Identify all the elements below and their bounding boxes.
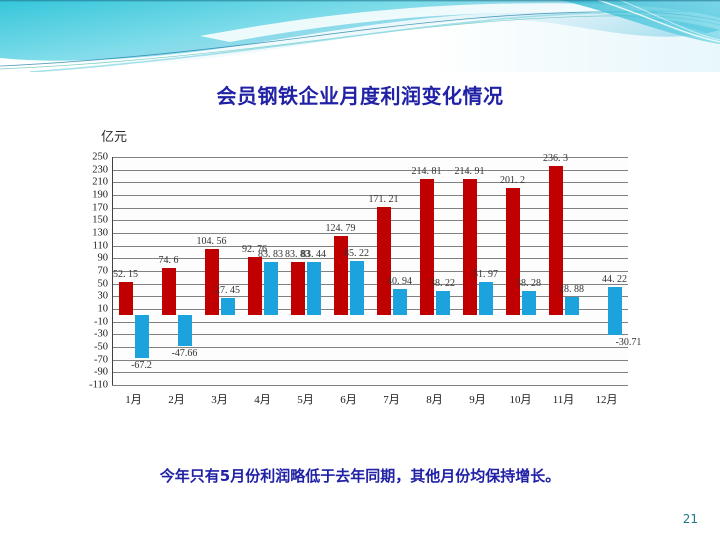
- x-axis-tick-label: 2月: [155, 391, 198, 407]
- bar-previous-year: [221, 298, 235, 315]
- bar-value-label: 214. 91: [455, 166, 485, 177]
- bar-value-label: 201. 2: [500, 175, 525, 186]
- bar-value-label: -30.71: [616, 337, 642, 348]
- bar-previous-year: [608, 315, 622, 334]
- x-axis-tick-label: 1月: [112, 391, 155, 407]
- bar-value-label: 236. 3: [543, 153, 568, 164]
- x-axis-tick-label: 6月: [327, 391, 370, 407]
- gridline: [112, 372, 628, 373]
- bar-current-year: [162, 268, 176, 315]
- x-axis-tick-label: 12月: [585, 391, 628, 407]
- x-axis-tick-label: 11月: [542, 391, 585, 407]
- y-axis-tick-label: 190: [68, 190, 108, 201]
- y-axis-tick-label: 210: [68, 177, 108, 188]
- bar-value-label: -67.2: [131, 360, 152, 371]
- bar-value-label: 38. 28: [516, 278, 541, 289]
- y-axis-tick-label: 170: [68, 202, 108, 213]
- y-axis-tick-label: -30: [68, 329, 108, 340]
- bar-value-label: 83. 83: [258, 249, 283, 260]
- bar-previous-year: [307, 262, 321, 315]
- y-axis-tick-label: 150: [68, 215, 108, 226]
- y-axis-tick-label: 50: [68, 278, 108, 289]
- bar-current-year: [205, 249, 219, 315]
- x-axis-tick-label: 3月: [198, 391, 241, 407]
- y-axis-tick-label: 30: [68, 291, 108, 302]
- bar-value-label: 104. 56: [197, 236, 227, 247]
- bar-previous-year: [135, 315, 149, 358]
- y-axis-tick-label: 250: [68, 152, 108, 163]
- bar-value-label: 171. 21: [369, 194, 399, 205]
- bar-current-year: [420, 179, 434, 315]
- bar-current-year: [119, 282, 133, 315]
- bar-previous-year: [522, 291, 536, 315]
- y-axis-tick-label: 10: [68, 304, 108, 315]
- x-axis-tick-label: 10月: [499, 391, 542, 407]
- y-axis-tick-label: -10: [68, 316, 108, 327]
- y-axis-tick-label: 110: [68, 240, 108, 251]
- gridline: [112, 385, 628, 386]
- bar-previous-year: [178, 315, 192, 345]
- x-axis-tick-label: 9月: [456, 391, 499, 407]
- monthly-profit-bar-chart: 2502302101901701501301109070503010-10-30…: [0, 0, 720, 540]
- bar-current-year: [506, 188, 520, 315]
- bar-value-label: 44. 22: [602, 274, 627, 285]
- slide-caption: 今年只有5月份利润略低于去年同期，其他月份均保持增长。: [0, 465, 720, 486]
- y-axis-tick-label: 90: [68, 253, 108, 264]
- bar-current-year: [248, 257, 262, 316]
- y-axis-tick-label: 130: [68, 228, 108, 239]
- gridline: [112, 360, 628, 361]
- chart-plot-area: 2502302101901701501301109070503010-10-30…: [112, 157, 628, 385]
- bar-value-label: 40. 94: [387, 276, 412, 287]
- y-axis-tick-label: -70: [68, 354, 108, 365]
- page-number: 21: [683, 512, 698, 526]
- bar-previous-year: [436, 291, 450, 315]
- bar-previous-year: [565, 297, 579, 315]
- bar-value-label: 51. 97: [473, 269, 498, 280]
- bar-value-label: 52. 15: [113, 269, 138, 280]
- bar-previous-year: [479, 282, 493, 315]
- y-axis-tick-label: -90: [68, 367, 108, 378]
- y-axis-tick-label: -50: [68, 342, 108, 353]
- bar-value-label: 85. 22: [344, 248, 369, 259]
- x-axis-tick-label: 5月: [284, 391, 327, 407]
- bar-value-label: 38. 22: [430, 278, 455, 289]
- y-axis-tick-label: 230: [68, 164, 108, 175]
- x-axis-tick-label: 7月: [370, 391, 413, 407]
- bar-previous-year: [608, 287, 622, 315]
- bar-current-year: [463, 179, 477, 315]
- bar-value-label: 83. 44: [301, 249, 326, 260]
- bar-previous-year: [264, 262, 278, 315]
- bar-value-label: 214. 81: [412, 166, 442, 177]
- x-axis-tick-label: 8月: [413, 391, 456, 407]
- bar-value-label: -47.66: [172, 348, 198, 359]
- bar-previous-year: [393, 289, 407, 315]
- bar-value-label: 28. 88: [559, 284, 584, 295]
- bar-value-label: 124. 79: [326, 223, 356, 234]
- bar-current-year: [377, 207, 391, 315]
- x-axis-tick-label: 4月: [241, 391, 284, 407]
- bar-value-label: 74. 6: [159, 255, 179, 266]
- bar-value-label: 27. 45: [215, 285, 240, 296]
- y-axis-tick-label: 70: [68, 266, 108, 277]
- y-axis-tick-label: -110: [68, 380, 108, 391]
- bar-previous-year: [350, 261, 364, 315]
- bar-current-year: [291, 262, 305, 315]
